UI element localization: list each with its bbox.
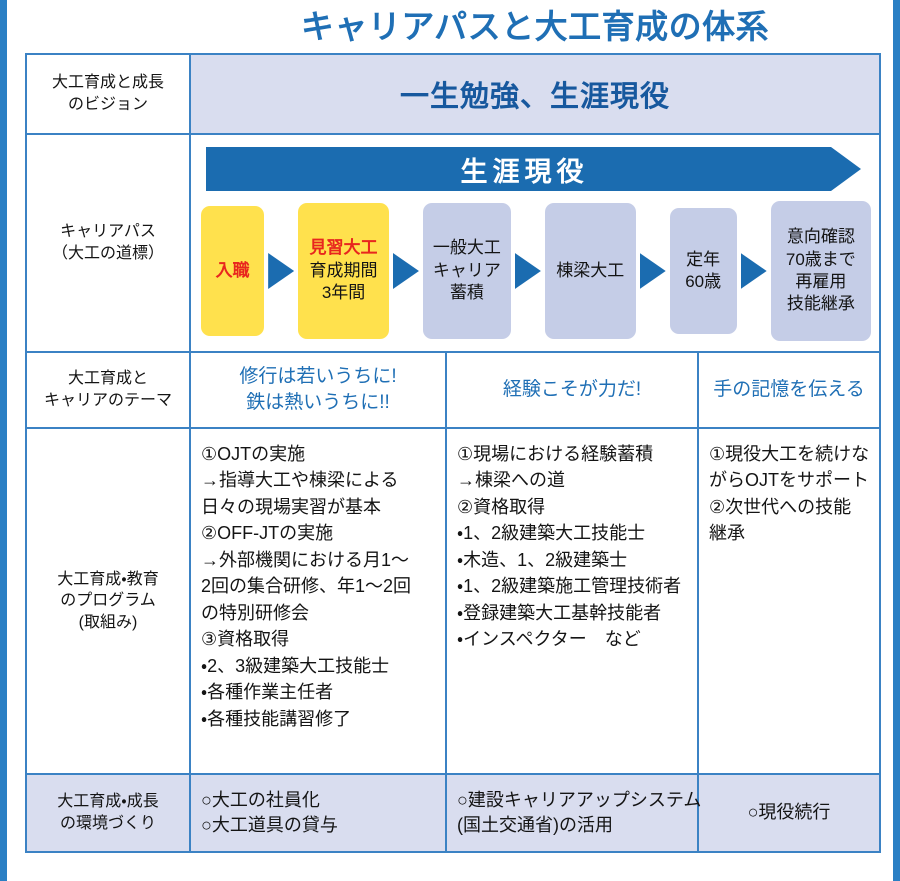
program-cell-apprentice: ①OJTの実施 →指導大工や棟梁による 日々の現場実習が基本 ②OFF-JTの実… — [191, 429, 447, 773]
theme-handmemory-line1: 手の記憶を伝える — [713, 377, 864, 403]
program-line: ・各種作業主任者 — [201, 679, 437, 705]
environment-cell-senior: ○現役続行 — [699, 775, 879, 851]
program-line: 継承 — [709, 520, 871, 546]
career-path-body: 生涯現役 入職 見習大工 育成期間 3年間 一般大工 — [191, 135, 879, 351]
program-line: ・木造、1、2級建築士 — [457, 547, 689, 573]
program-cell-senior: ①現役大工を続けな がらOJTをサポート ②次世代への技能 継承 — [699, 429, 879, 773]
lifelong-banner-wrap: 生涯現役 — [206, 147, 861, 191]
program-line: ・2、3級建築大工技能士 — [201, 653, 437, 679]
row-label-career-path: キャリアパス （大工の道標） — [27, 135, 191, 351]
stage-box-general-carpenter[interactable]: 一般大工 キャリア 蓄積 — [423, 203, 511, 339]
program-cell-experienced: ①現場における経験蓄積 →棟梁への道 ②資格取得 ・1、2級建築大工技能士 ・木… — [447, 429, 699, 773]
theme-experience-line1: 経験こそが力だ! — [503, 377, 641, 403]
chevron-right-icon — [268, 253, 294, 289]
row-label-environment-line2: の環境づくり — [57, 813, 158, 835]
environment-cell-experienced: ○建設キャリアアップシステム (国土交通省)の活用 — [447, 775, 699, 851]
stage-box-retirement[interactable]: 定年 60歳 — [670, 208, 737, 334]
environment-body: ○大工の社員化 ○大工道具の貸与 ○建設キャリアアップシステム (国土交通省)の… — [191, 775, 879, 851]
table-row-program: 大工育成・教育 のプログラム (取組み) ①OJTの実施 →指導大工や棟梁による… — [27, 429, 879, 775]
stage-apprentice-line1: 見習大工 — [310, 237, 378, 259]
program-line: →外部機関における月1〜 — [201, 547, 437, 573]
lifelong-arrow-banner: 生涯現役 — [206, 147, 861, 191]
stage-retirement-line1: 定年 — [686, 249, 720, 271]
page-title: キャリアパスと大工育成の体系 — [301, 10, 769, 43]
program-line: ①現役大工を続けな — [709, 441, 871, 467]
stage-retirement-line2: 60歳 — [685, 271, 721, 293]
chevron-right-icon — [393, 253, 419, 289]
row-label-vision: 大工育成と成長 のビジョン — [27, 55, 191, 133]
row-label-career-line2: （大工の道標） — [52, 243, 164, 265]
row-label-theme-line1: 大工育成と — [44, 368, 172, 390]
stage-general-line2: キャリア — [433, 260, 501, 282]
program-line: がらOJTをサポート — [709, 467, 871, 493]
table-row-environment: 大工育成・成長 の環境づくり ○大工の社員化 ○大工道具の貸与 ○建設キャリアア… — [27, 775, 879, 851]
theme-early-line1: 修行は若いうちに! — [239, 364, 396, 390]
program-line: ①現場における経験蓄積 — [457, 441, 689, 467]
environment-line: ○大工道具の貸与 — [201, 813, 435, 838]
program-line: ③資格取得 — [201, 626, 437, 652]
chevron-right-icon — [741, 253, 767, 289]
program-line: の特別研修会 — [201, 600, 437, 626]
stage-rehire-line3: 再雇用 — [795, 271, 846, 293]
theme-cell-experience: 経験こそが力だ! — [447, 353, 699, 427]
program-line: ・登録建築大工基幹技能者 — [457, 600, 689, 626]
table-row-theme: 大工育成と キャリアのテーマ 修行は若いうちに! 鉄は熱いうちに!! 経験こそが… — [27, 353, 879, 429]
program-line: ・インスペクター など — [457, 626, 689, 652]
program-line: ②次世代への技能 — [709, 494, 871, 520]
vision-statement: 一生勉強、生涯現役 — [400, 73, 670, 115]
program-line: ①OJTの実施 — [201, 441, 437, 467]
environment-line: (国土交通省)の活用 — [457, 813, 687, 838]
row-label-environment: 大工育成・成長 の環境づくり — [27, 775, 191, 851]
program-line: 2回の集合研修、年1〜2回 — [201, 573, 437, 599]
table-row-vision: 大工育成と成長 のビジョン 一生勉強、生涯現役 — [27, 55, 879, 135]
program-line: ②資格取得 — [457, 494, 689, 520]
row-label-program: 大工育成・教育 のプログラム (取組み) — [27, 429, 191, 773]
theme-cell-handmemory: 手の記憶を伝える — [699, 353, 879, 427]
theme-cell-early: 修行は若いうちに! 鉄は熱いうちに!! — [191, 353, 447, 427]
stage-box-entry[interactable]: 入職 — [201, 206, 264, 336]
environment-line: ○大工の社員化 — [201, 788, 435, 813]
theme-early-line2: 鉄は熱いうちに!! — [239, 390, 396, 416]
program-line: →指導大工や棟梁による — [201, 467, 437, 493]
stage-box-apprentice[interactable]: 見習大工 育成期間 3年間 — [298, 203, 389, 339]
stage-rehire-line1: 意向確認 — [787, 226, 855, 248]
row-label-environment-line1: 大工育成・成長 — [57, 791, 158, 813]
row-label-vision-line1: 大工育成と成長 — [52, 72, 164, 94]
row-label-program-line3: (取組み) — [57, 612, 158, 634]
stage-apprentice-line3: 3年間 — [322, 282, 365, 304]
row-label-program-line2: のプログラム — [57, 590, 158, 612]
page-title-bar: キャリアパスと大工育成の体系 — [7, 0, 893, 52]
row-label-theme: 大工育成と キャリアのテーマ — [27, 353, 191, 427]
program-line: ・各種技能講習修了 — [201, 706, 437, 732]
program-line: →棟梁への道 — [457, 467, 689, 493]
environment-cell-apprentice: ○大工の社員化 ○大工道具の貸与 — [191, 775, 447, 851]
stage-master-line1: 棟梁大工 — [556, 260, 624, 282]
environment-line: ○現役続行 — [748, 800, 831, 825]
stage-apprentice-line2: 育成期間 — [310, 260, 378, 282]
row-label-program-line1: 大工育成・教育 — [57, 569, 158, 591]
stage-rehire-line4: 技能継承 — [787, 293, 855, 315]
program-body: ①OJTの実施 →指導大工や棟梁による 日々の現場実習が基本 ②OFF-JTの実… — [191, 429, 879, 773]
stage-box-rehire[interactable]: 意向確認 70歳まで 再雇用 技能継承 — [771, 201, 871, 341]
environment-line: ○建設キャリアアップシステム — [457, 788, 687, 813]
chevron-right-icon — [640, 253, 666, 289]
theme-body: 修行は若いうちに! 鉄は熱いうちに!! 経験こそが力だ! 手の記憶を伝える — [191, 353, 879, 427]
row-label-theme-line2: キャリアのテーマ — [44, 390, 172, 412]
career-stage-strip: 入職 見習大工 育成期間 3年間 一般大工 キャリア 蓄積 — [201, 201, 871, 341]
program-line: ②OFF-JTの実施 — [201, 520, 437, 546]
stage-general-line3: 蓄積 — [450, 282, 484, 304]
program-line: ・1、2級建築施工管理技術者 — [457, 573, 689, 599]
vision-banner: 一生勉強、生涯現役 — [191, 55, 879, 133]
stage-rehire-line2: 70歳まで — [786, 249, 856, 271]
lifelong-banner-label: 生涯現役 — [461, 150, 607, 189]
chevron-right-icon — [515, 253, 541, 289]
row-label-career-line1: キャリアパス — [52, 221, 164, 243]
table-row-career-path: キャリアパス （大工の道標） 生涯現役 入職 見習大工 — [27, 135, 879, 353]
stage-general-line1: 一般大工 — [433, 237, 501, 259]
stage-box-master-carpenter[interactable]: 棟梁大工 — [545, 203, 636, 339]
career-path-table: 大工育成と成長 のビジョン 一生勉強、生涯現役 キャリアパス （大工の道標） 生… — [25, 53, 881, 853]
stage-entry-line1: 入職 — [216, 260, 250, 282]
program-line: 日々の現場実習が基本 — [201, 494, 437, 520]
program-line: ・1、2級建築大工技能士 — [457, 520, 689, 546]
row-label-vision-line2: のビジョン — [52, 94, 164, 116]
career-path-diagram-page: キャリアパスと大工育成の体系 大工育成と成長 のビジョン 一生勉強、生涯現役 キ… — [0, 0, 900, 881]
